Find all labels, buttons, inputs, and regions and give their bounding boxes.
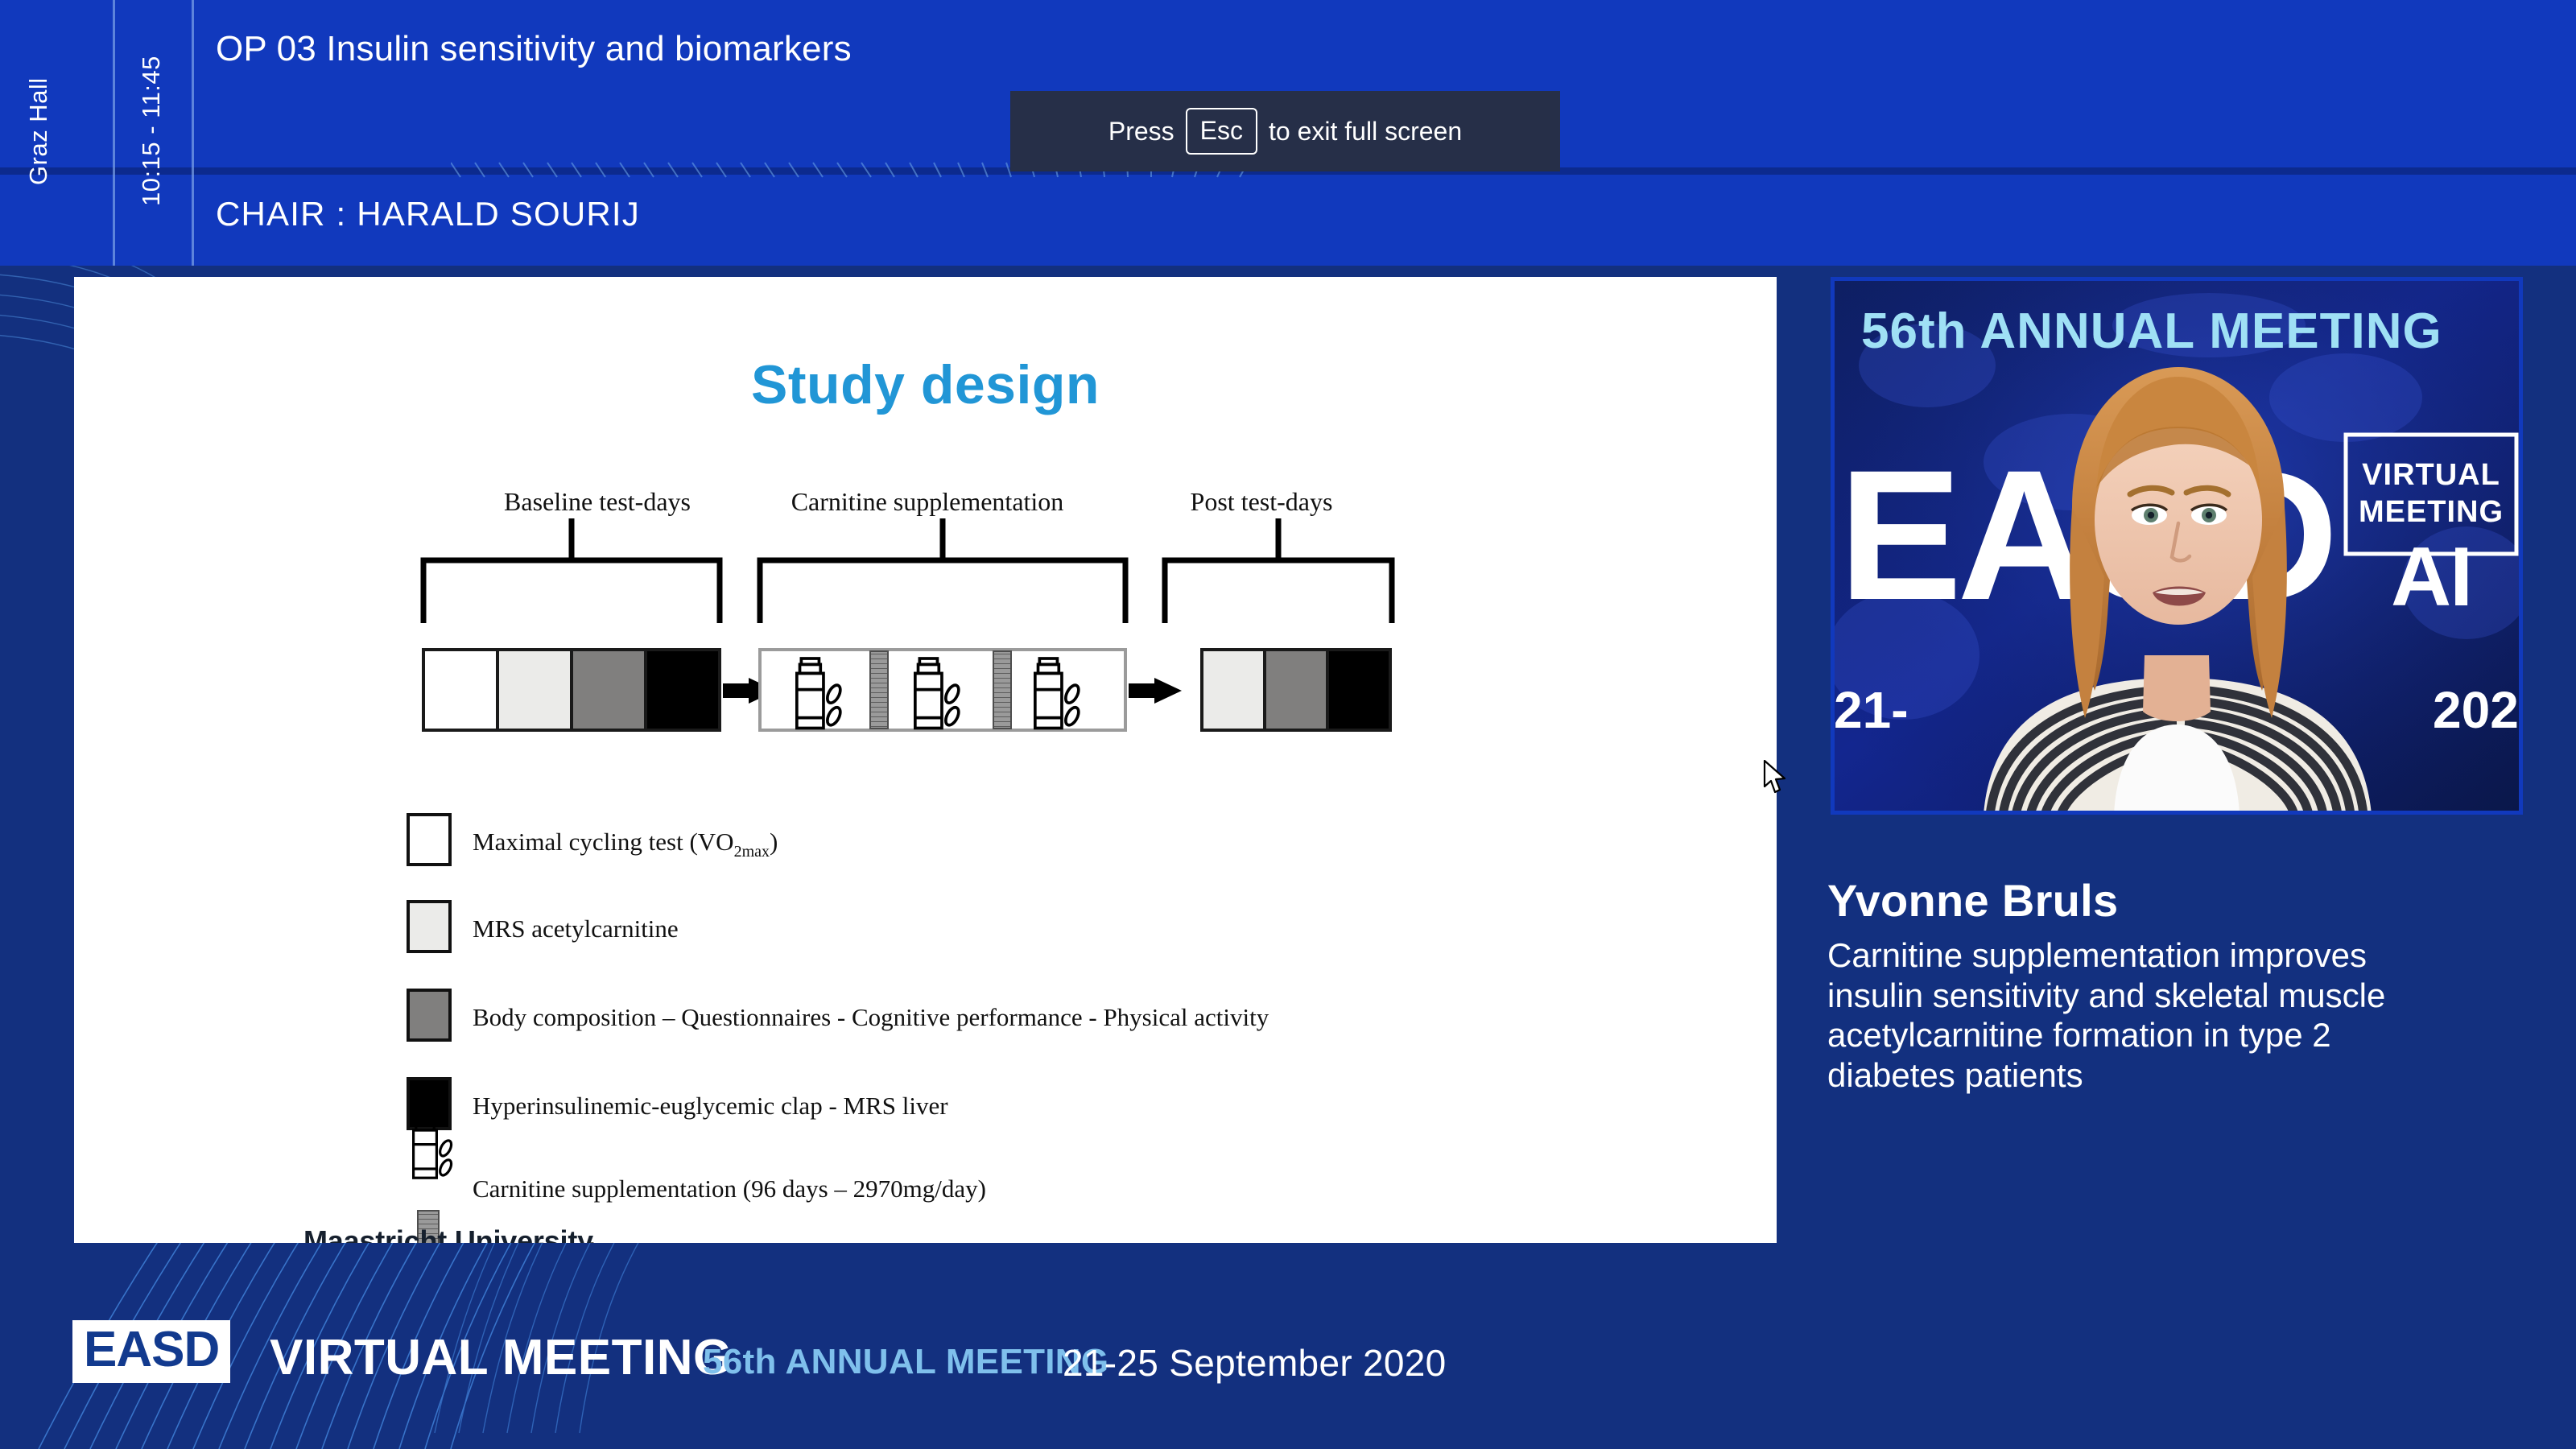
svg-text:Post test-days: Post test-days <box>1191 487 1333 516</box>
session-title: OP 03 Insulin sensitivity and biomarkers <box>216 29 1584 69</box>
speaker-name: Yvonne Bruls <box>1827 874 2552 927</box>
svg-text:Baseline test-days: Baseline test-days <box>504 487 691 516</box>
speaker-video[interactable]: 56th ANNUAL MEETING EASD VIRTUAL MEETING… <box>1831 277 2523 815</box>
esc-key-badge: Esc <box>1186 108 1257 155</box>
svg-text:VIRTUAL: VIRTUAL <box>2362 458 2500 492</box>
header-divider-line-2 <box>192 0 194 266</box>
svg-text:Carnitine supplementation (96: Carnitine supplementation (96 days – 297… <box>473 1174 986 1203</box>
footer-dates: 21-25 September 2020 <box>1063 1344 1447 1381</box>
svg-text:2020: 2020 <box>2433 681 2523 739</box>
exit-fullscreen-toast: Press Esc to exit full screen <box>1010 91 1560 171</box>
session-chair: CHAIR : HARALD SOURIJ <box>216 195 1584 233</box>
maastricht-university-label: Maastricht University <box>303 1224 593 1243</box>
svg-text:MEETING: MEETING <box>2359 495 2504 529</box>
speaker-video-canvas: 56th ANNUAL MEETING EASD VIRTUAL MEETING… <box>1831 277 2523 815</box>
svg-text:AI: AI <box>2391 530 2471 624</box>
esc-toast-prefix: Press <box>1108 117 1174 147</box>
svg-text:MRS acetylcarnitine: MRS acetylcarnitine <box>473 914 679 943</box>
mouse-cursor <box>1763 760 1790 797</box>
svg-text:Maximal cycling test (VO2max): Maximal cycling test (VO2max) <box>473 828 778 861</box>
svg-text:21-: 21- <box>1834 681 1909 739</box>
svg-text:Body composition – Questionnai: Body composition – Questionnaires - Cogn… <box>473 1003 1269 1031</box>
footer-annual-meeting: 56th ANNUAL MEETING <box>703 1344 1108 1380</box>
svg-text:Carnitine supplementation: Carnitine supplementation <box>791 487 1064 516</box>
hall-label: Graz Hall <box>24 14 53 248</box>
presentation-slide[interactable]: Study design Baseline test-days Carnitin… <box>74 277 1777 1243</box>
easd-logo-badge: EASD <box>72 1320 230 1383</box>
header-divider-line-1 <box>113 0 115 266</box>
svg-text:56th ANNUAL MEETING: 56th ANNUAL MEETING <box>1861 303 2442 359</box>
svg-text:Hyperinsulinemic-euglycemic c: Hyperinsulinemic-euglycemic clap - MRS l… <box>473 1092 948 1120</box>
session-time-label: 10:15 - 11:45 <box>137 14 166 248</box>
abstract-title: Carnitine supplementation improves insul… <box>1827 935 2463 1095</box>
esc-toast-suffix: to exit full screen <box>1269 117 1462 147</box>
footer-virtual-meeting: VIRTUAL MEETING <box>270 1333 733 1383</box>
study-design-diagram: Baseline test-days Carnitine supplementa… <box>74 277 1777 1243</box>
